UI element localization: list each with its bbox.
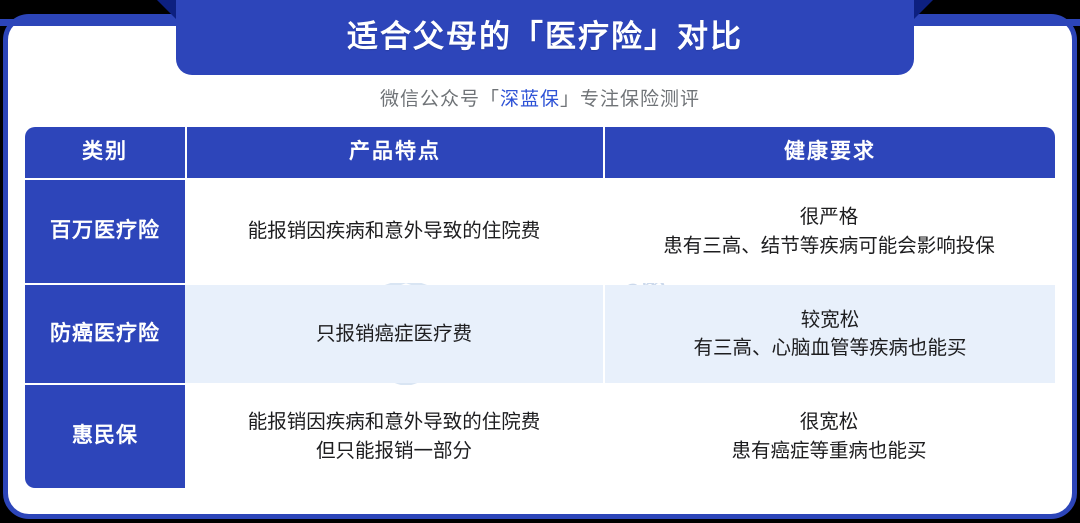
row-category-label: 百万医疗险 <box>25 180 185 283</box>
column-header-category: 类别 <box>25 127 185 178</box>
infographic-canvas: 适合父母的「医疗险」对比 微信公众号「深蓝保」专注保险测评 shenlanbao… <box>0 0 1080 523</box>
row-category-label: 惠民保 <box>25 385 185 488</box>
health-line: 较宽松 <box>693 306 966 334</box>
ribbon-fold-right-icon <box>914 0 933 19</box>
table-header-row: 类别 产品特点 健康要求 <box>25 127 1055 178</box>
ribbon-strip-left <box>0 19 180 26</box>
row-feature-text: 只报销癌症医疗费 <box>185 285 603 383</box>
row-health-text: 较宽松 有三高、心脑血管等疾病也能买 <box>603 285 1055 383</box>
row-health-text: 很严格 患有三高、结节等疾病可能会影响投保 <box>603 180 1055 283</box>
feature-line: 能报销因疾病和意外导致的住院费 <box>248 408 541 436</box>
title-banner: 适合父母的「医疗险」对比 <box>176 0 914 75</box>
title-banner-group: 适合父母的「医疗险」对比 <box>0 0 1080 90</box>
subtitle-prefix: 微信公众号「 <box>380 89 500 110</box>
health-line: 有三高、心脑血管等疾病也能买 <box>693 334 966 362</box>
health-line: 患有三高、结节等疾病可能会影响投保 <box>663 232 995 260</box>
feature-line: 但只能报销一部分 <box>248 437 541 465</box>
row-feature-text: 能报销因疾病和意外导致的住院费 <box>185 180 603 283</box>
feature-line: 只报销癌症医疗费 <box>316 320 472 348</box>
health-line: 很严格 <box>663 203 995 231</box>
page-title: 适合父母的「医疗险」对比 <box>176 11 914 56</box>
table-row: 百万医疗险 能报销因疾病和意外导致的住院费 很严格 患有三高、结节等疾病可能会影… <box>25 180 1055 283</box>
table-row: 防癌医疗险 只报销癌症医疗费 较宽松 有三高、心脑血管等疾病也能买 <box>25 285 1055 383</box>
health-line: 很宽松 <box>731 408 926 436</box>
feature-line: 能报销因疾病和意外导致的住院费 <box>248 217 541 245</box>
subtitle-suffix: 」专注保险测评 <box>560 89 700 110</box>
ribbon-fold-left-icon <box>157 0 176 19</box>
column-header-features: 产品特点 <box>185 127 603 178</box>
ribbon-strip-right <box>910 19 1080 26</box>
column-header-health: 健康要求 <box>603 127 1055 178</box>
table-row: 惠民保 能报销因疾病和意外导致的住院费 但只能报销一部分 很宽松 患有癌症等重病… <box>25 385 1055 488</box>
health-line: 患有癌症等重病也能买 <box>731 437 926 465</box>
row-category-label: 防癌医疗险 <box>25 285 185 383</box>
subtitle-brand: 深蓝保 <box>500 89 560 110</box>
row-feature-text: 能报销因疾病和意外导致的住院费 但只能报销一部分 <box>185 385 603 488</box>
comparison-table: 类别 产品特点 健康要求 百万医疗险 能报销因疾病和意外导致的住院费 很严格 患… <box>25 127 1055 490</box>
row-health-text: 很宽松 患有癌症等重病也能买 <box>603 385 1055 488</box>
